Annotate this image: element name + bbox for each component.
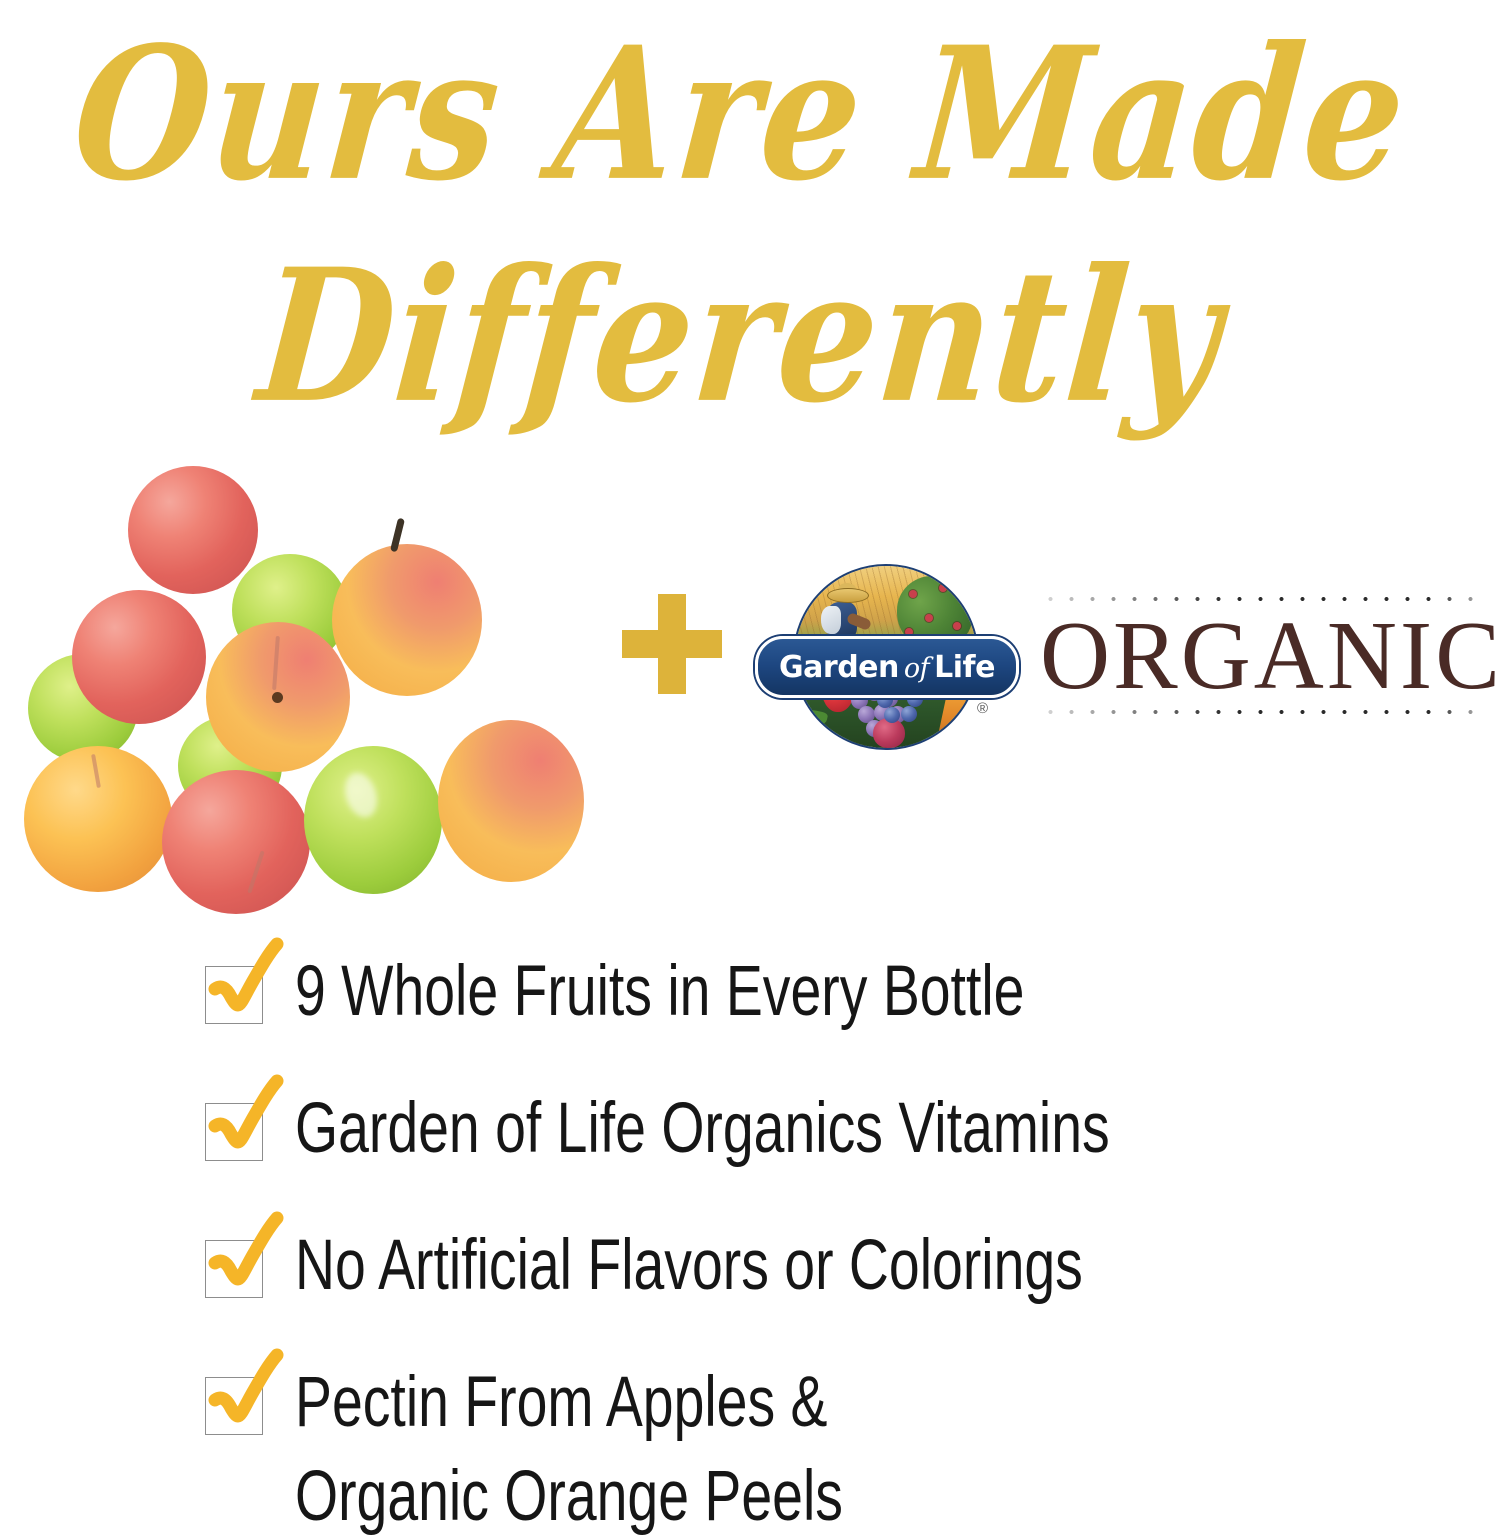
- checklist-item-label: No Artificial Flavors or Colorings: [295, 1224, 1083, 1308]
- plus-icon: [622, 594, 722, 694]
- checklist-item: Garden of Life Organics Vitamins: [205, 1087, 1465, 1171]
- checkbox-checked[interactable]: [205, 1103, 263, 1161]
- garden-of-life-banner: GardenofLife: [755, 636, 1019, 698]
- brand-word-of: of: [899, 653, 934, 684]
- organics-wordmark: ORGANICS: [1040, 596, 1488, 715]
- brand-word-garden: Garden: [779, 650, 899, 685]
- checklist-item: 9 Whole Fruits in Every Bottle: [205, 950, 1465, 1034]
- checkmark-icon: [201, 1350, 293, 1442]
- checklist-item-label: 9 Whole Fruits in Every Bottle: [295, 950, 1024, 1034]
- product-callout-band: GardenofLife ® ORGANICS: [0, 448, 1500, 918]
- checkbox-checked[interactable]: [205, 966, 263, 1024]
- benefits-checklist: 9 Whole Fruits in Every Bottle Garden of…: [205, 950, 1465, 1539]
- checklist-item-label-line2: Organic Orange Peels: [295, 1455, 843, 1539]
- checklist-item-label-wrapper: Pectin From Apples & Organic Orange Peel…: [295, 1361, 843, 1539]
- garden-of-life-banner-text: GardenofLife: [779, 650, 995, 685]
- checkbox-checked[interactable]: [205, 1377, 263, 1435]
- checkmark-icon: [201, 939, 293, 1031]
- checkbox-checked[interactable]: [205, 1240, 263, 1298]
- fruit-pile-image: [10, 458, 630, 878]
- checkmark-icon: [201, 1076, 293, 1168]
- registered-trademark-icon: ®: [977, 700, 988, 717]
- headline-line-2: Differently: [0, 230, 1500, 442]
- checkmark-icon: [201, 1213, 293, 1305]
- garden-of-life-logo: GardenofLife ®: [793, 564, 979, 750]
- organics-text: ORGANICS: [1040, 602, 1488, 709]
- dotted-rule-top: [1040, 596, 1488, 602]
- checklist-item-label: Pectin From Apples &: [295, 1363, 827, 1442]
- dotted-rule-bottom: [1040, 709, 1488, 715]
- headline: Ours Are Made Differently: [0, 0, 1500, 410]
- checklist-item-label: Garden of Life Organics Vitamins: [295, 1087, 1110, 1171]
- headline-line-1: Ours Are Made: [0, 8, 1500, 220]
- brand-word-life: Life: [934, 650, 995, 685]
- checklist-item: No Artificial Flavors or Colorings: [205, 1224, 1465, 1308]
- checklist-item: Pectin From Apples & Organic Orange Peel…: [205, 1361, 1465, 1539]
